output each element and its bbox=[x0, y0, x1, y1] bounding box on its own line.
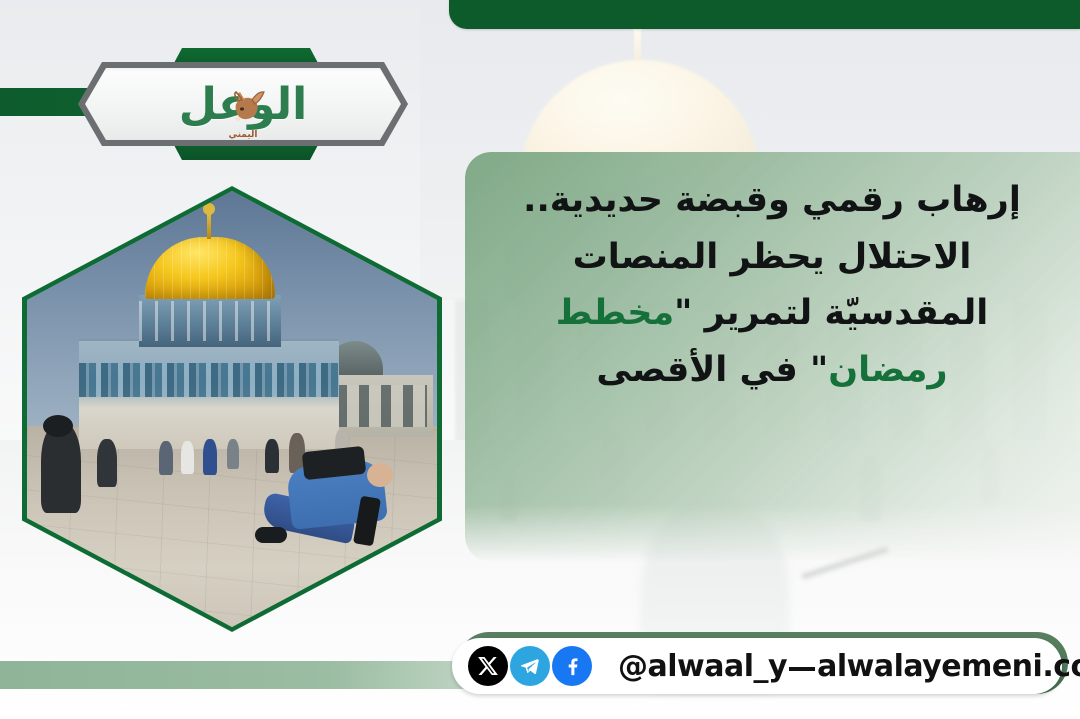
x-twitter-icon[interactable] bbox=[468, 646, 508, 686]
news-card-canvas: الوعل اليمني bbox=[0, 0, 1080, 719]
headline-quote-open: " bbox=[674, 293, 692, 333]
headline-part-2: في الأقصى bbox=[596, 350, 810, 390]
social-handle: @alwaal_y bbox=[618, 649, 787, 684]
social-pill: @alwaal_yalwalayemeni.com bbox=[452, 638, 1062, 694]
brand-logo[interactable]: الوعل اليمني bbox=[78, 48, 408, 160]
social-handle-text[interactable]: @alwaal_yalwalayemeni.com bbox=[618, 649, 1080, 684]
social-website: alwalayemeni.com bbox=[817, 649, 1080, 684]
telegram-icon[interactable] bbox=[510, 646, 550, 686]
bottom-accent-band bbox=[0, 661, 470, 689]
headline-container: إرهاب رقمي وقبضة حديدية.. الاحتلال يحظر … bbox=[472, 172, 1072, 552]
logo-subtitle: اليمني bbox=[78, 130, 408, 140]
facebook-icon[interactable] bbox=[552, 646, 592, 686]
headline-quote-close: " bbox=[810, 350, 828, 390]
handle-separator bbox=[789, 667, 815, 671]
news-photo-hexagon bbox=[22, 186, 442, 632]
top-accent-bar bbox=[449, 0, 1080, 29]
social-icons bbox=[468, 646, 592, 686]
ibex-head-icon bbox=[228, 90, 268, 124]
photo-dome-of-the-rock bbox=[27, 191, 437, 627]
headline-text: إرهاب رقمي وقبضة حديدية.. الاحتلال يحظر … bbox=[486, 172, 1058, 399]
social-footer: @alwaal_yalwalayemeni.com bbox=[452, 632, 1068, 698]
